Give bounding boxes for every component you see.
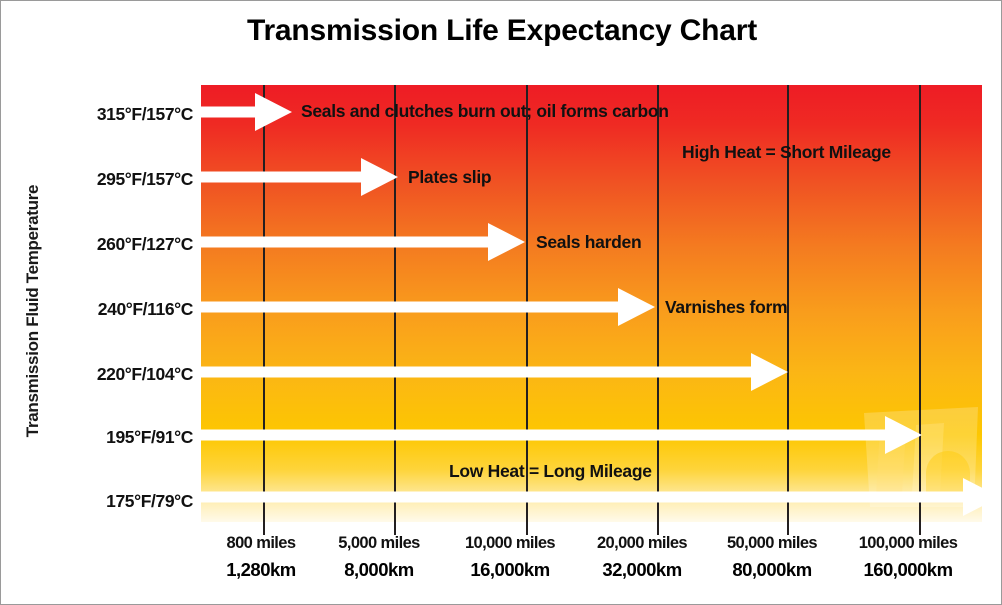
plot-area: Seals and clutches burn out; oil forms c…: [201, 85, 982, 522]
y-tick-label-315f: 315°F/157°C: [13, 104, 193, 125]
x-label-km-80000: 80,000km: [706, 561, 838, 580]
x-column-5000-miles: 5,000 miles 8,000km: [313, 535, 445, 579]
arrow-bar-175f: [201, 477, 982, 517]
annotation-low-heat: Low Heat = Long Mileage: [449, 461, 652, 482]
annotation-seals-harden: Seals harden: [536, 232, 641, 253]
x-label-miles-50000: 50,000 miles: [706, 535, 838, 552]
arrow-bar-240f: [201, 287, 656, 327]
y-tick-label-295f: 295°F/157°C: [13, 169, 193, 190]
x-label-miles-20000: 20,000 miles: [576, 535, 708, 552]
x-label-km-1280: 1,280km: [196, 561, 326, 580]
gridline-4: [657, 85, 659, 522]
x-label-km-16000: 16,000km: [444, 561, 576, 580]
arrow-bar-260f: [201, 222, 526, 262]
y-axis-tick-labels: 315°F/157°C 295°F/157°C 260°F/127°C 240°…: [1, 1, 193, 605]
x-column-10000-miles: 10,000 miles 16,000km: [444, 535, 576, 579]
x-label-km-32000: 32,000km: [576, 561, 708, 580]
x-column-100000-miles: 100,000 miles 160,000km: [838, 535, 978, 579]
chart-canvas: Transmission Life Expectancy Chart Trans…: [0, 0, 1002, 605]
y-tick-label-220f: 220°F/104°C: [13, 364, 193, 385]
annotation-seals-clutches-burn: Seals and clutches burn out; oil forms c…: [301, 101, 669, 122]
x-column-800-miles: 800 miles 1,280km: [196, 535, 326, 579]
y-tick-label-175f: 175°F/79°C: [13, 491, 193, 512]
annotation-high-heat: High Heat = Short Mileage: [682, 142, 891, 163]
annotation-plates-slip: Plates slip: [408, 167, 491, 188]
x-label-miles-5000: 5,000 miles: [313, 535, 445, 552]
arrow-bar-315f: [201, 92, 293, 132]
x-label-miles-800: 800 miles: [196, 535, 326, 552]
x-label-km-8000: 8,000km: [313, 561, 445, 580]
x-label-km-160000: 160,000km: [838, 561, 978, 580]
arrow-bar-195f: [201, 415, 923, 455]
y-tick-label-195f: 195°F/91°C: [13, 427, 193, 448]
x-label-miles-10000: 10,000 miles: [444, 535, 576, 552]
y-tick-label-240f: 240°F/116°C: [13, 299, 193, 320]
y-tick-label-260f: 260°F/127°C: [13, 234, 193, 255]
arrow-bar-220f: [201, 352, 789, 392]
gridline-6: [919, 85, 921, 522]
arrow-bar-295f: [201, 157, 399, 197]
x-column-50000-miles: 50,000 miles 80,000km: [706, 535, 838, 579]
x-column-20000-miles: 20,000 miles 32,000km: [576, 535, 708, 579]
x-axis-labels: 800 miles 1,280km 5,000 miles 8,000km 10…: [201, 535, 982, 597]
annotation-varnishes-form: Varnishes form: [665, 297, 787, 318]
x-label-miles-100000: 100,000 miles: [838, 535, 978, 552]
